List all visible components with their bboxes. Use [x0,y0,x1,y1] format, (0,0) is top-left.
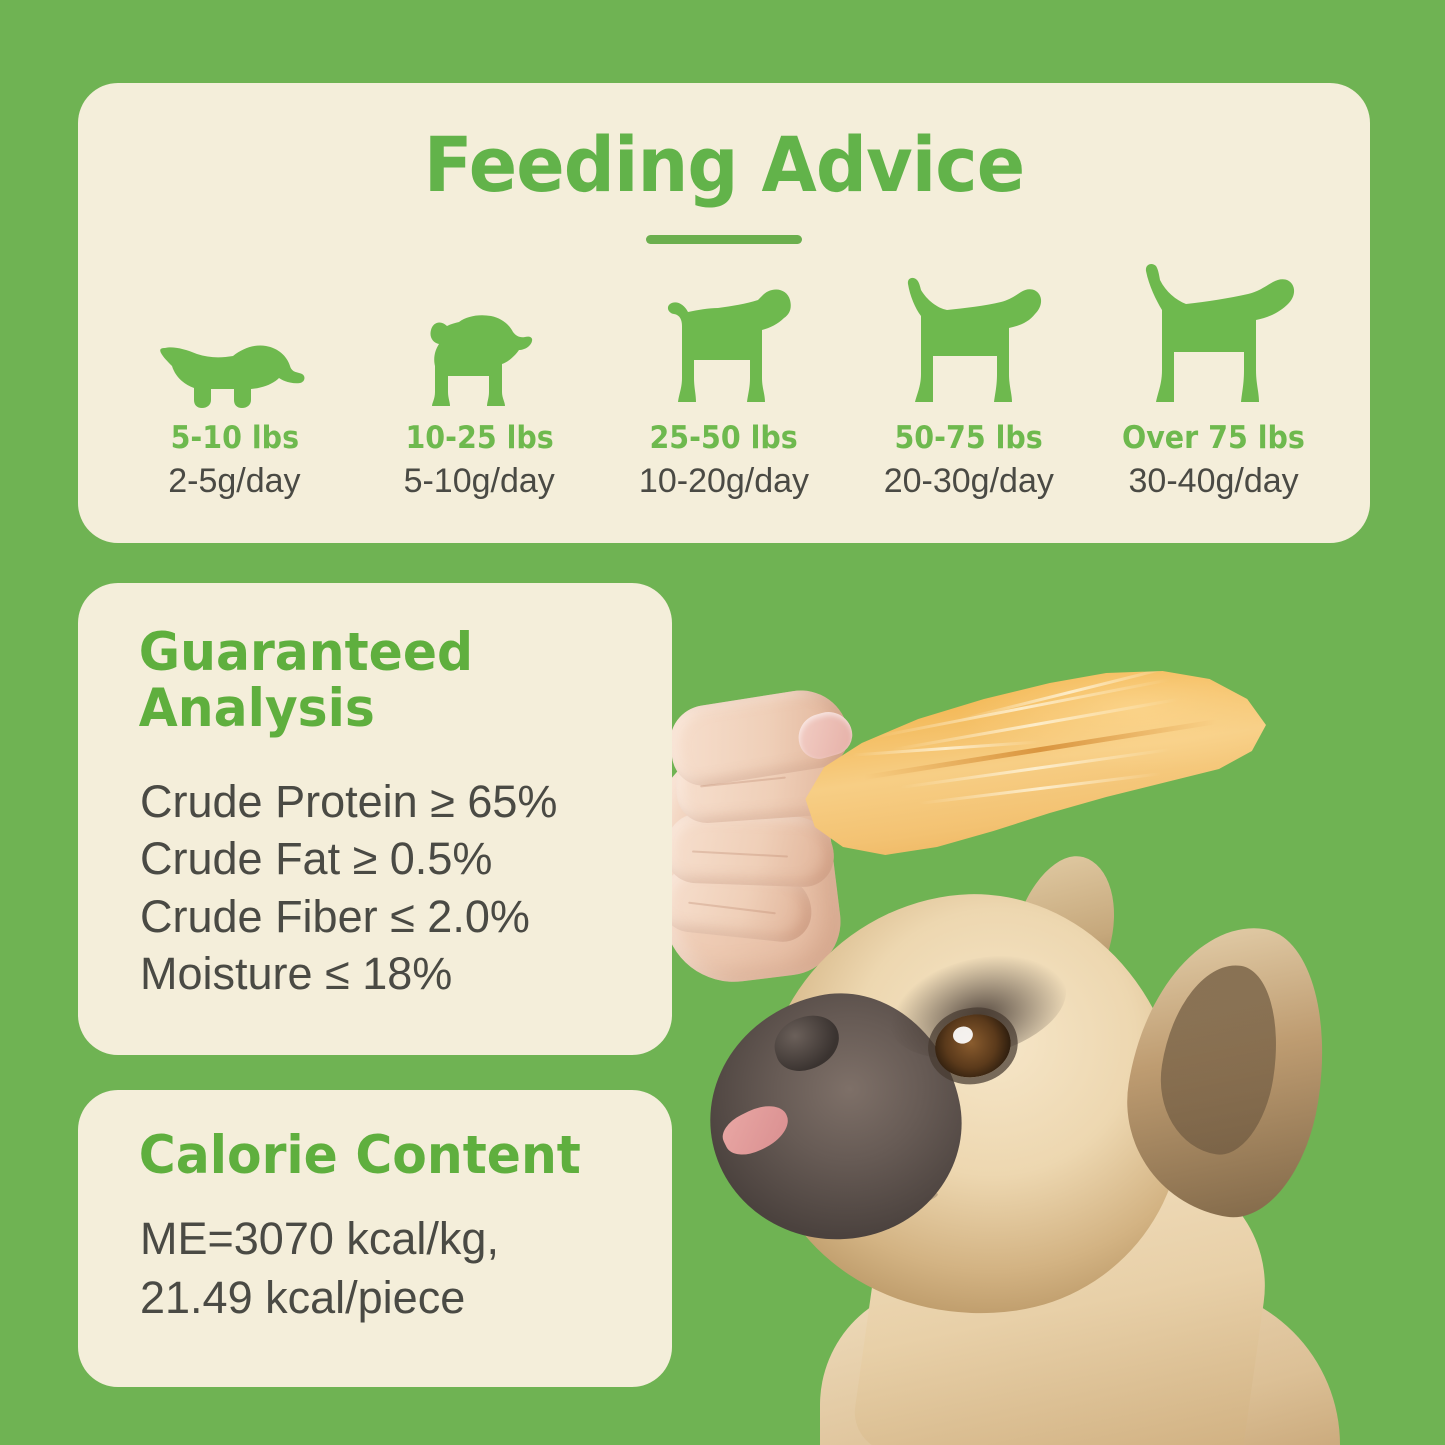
feeding-dog-row: 5-10 lbs 2-5g/day 10-25 lbs 5-10g/day 25… [78,244,1370,501]
xlarge-dog-silhouette-icon [1130,270,1298,410]
page-title: Feeding Advice [117,127,1331,203]
dose-label: 5-10g/day [404,462,555,501]
treat-fiber [919,772,1162,805]
dose-label: 10-20g/day [639,462,809,501]
analysis-row: Crude Fat ≥ 0.5% [140,830,672,887]
feeding-entry-2: 10-25 lbs 5-10g/day [357,270,602,501]
treat-fiber [959,664,1179,721]
treat-body [796,655,1266,855]
french-bulldog-photo [700,855,1445,1445]
dose-label: 2-5g/day [168,462,300,501]
feeding-entry-1: 5-10 lbs 2-5g/day [112,270,357,501]
feeding-entry-3: 25-50 lbs 10-20g/day [602,270,847,501]
small-dog-silhouette-icon [419,270,539,410]
analysis-title-line1: Guaranteed [139,625,643,681]
weight-label: 50-75 lbs [895,420,1043,456]
analysis-row: Crude Fiber ≤ 2.0% [140,888,672,945]
dose-label: 30-40g/day [1129,462,1299,501]
calorie-lines: ME=3070 kcal/kg, 21.49 kcal/piece [78,1184,672,1327]
dose-label: 20-30g/day [884,462,1054,501]
calorie-line: 21.49 kcal/piece [140,1269,672,1328]
analysis-row: Moisture ≤ 18% [140,945,672,1002]
analysis-title: Guaranteed Analysis [78,583,642,737]
medium-dog-silhouette-icon [654,270,794,410]
weight-label: 5-10 lbs [170,420,298,456]
weight-label: Over 75 lbs [1122,420,1305,456]
analysis-row: Crude Protein ≥ 65% [140,773,672,830]
large-dog-silhouette-icon [893,270,1045,410]
calorie-content-card: Calorie Content ME=3070 kcal/kg, 21.49 k… [78,1090,672,1387]
feeding-advice-card: Feeding Advice 5-10 lbs 2-5g/day 10-25 l… [78,83,1370,543]
analysis-list: Crude Protein ≥ 65% Crude Fat ≥ 0.5% Cru… [78,737,672,1002]
small-puppy-silhouette-icon [159,270,309,410]
weight-label: 25-50 lbs [650,420,798,456]
title-divider [646,235,802,244]
treat-fiber [901,748,1171,789]
weight-label: 10-25 lbs [405,420,553,456]
chicken-jerky-treat-icon [796,655,1266,855]
calorie-title: Calorie Content [78,1090,642,1184]
calorie-line: ME=3070 kcal/kg, [140,1210,672,1269]
analysis-title-line2: Analysis [139,681,643,737]
feeding-entry-5: Over 75 lbs 30-40g/day [1091,270,1336,501]
feeding-entry-4: 50-75 lbs 20-30g/day [846,270,1091,501]
guaranteed-analysis-card: Guaranteed Analysis Crude Protein ≥ 65% … [78,583,672,1055]
